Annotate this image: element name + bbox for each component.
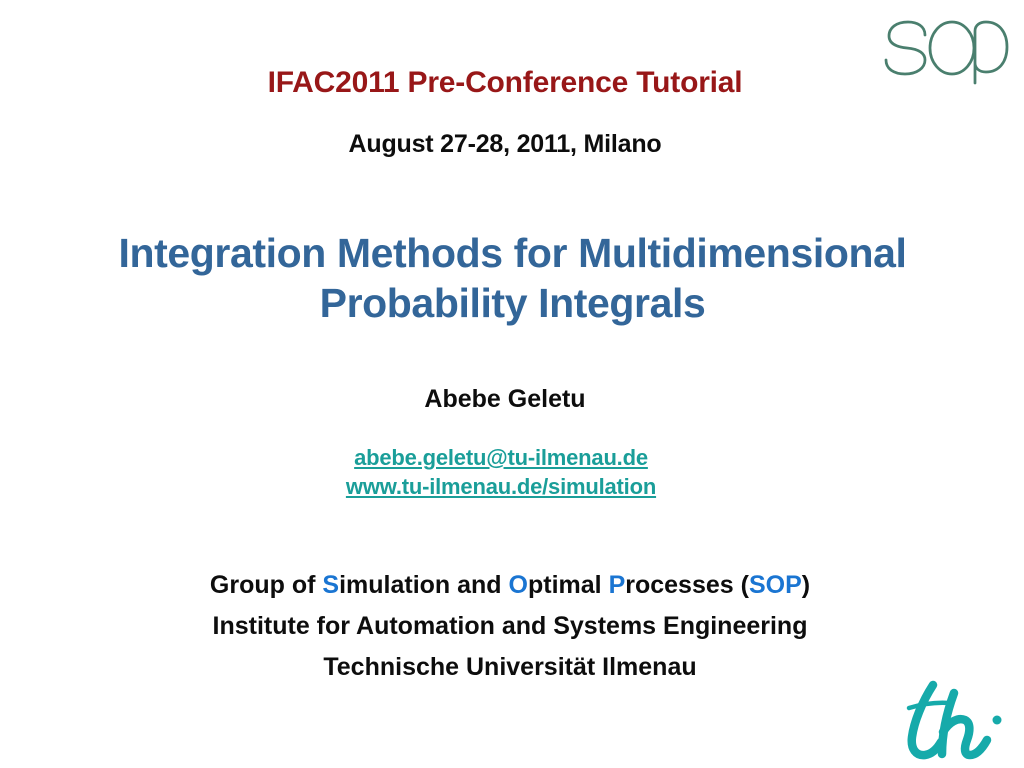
tu-ilmenau-logo [894, 680, 1010, 764]
affiliation-line-1: Group of Simulation and Optimal Processe… [10, 565, 1010, 606]
affiliation-line-2: Institute for Automation and Systems Eng… [10, 606, 1010, 647]
conference-name: IFAC2011 Pre-Conference Tutorial [0, 66, 1010, 100]
affiliation-accent-o: O [509, 571, 528, 599]
affiliation-text-group-of: Group of [210, 571, 322, 599]
affiliation-accent-sop: SOP [749, 571, 802, 599]
page-title: Integration Methods for Multidimensional… [20, 228, 1005, 328]
website-link[interactable]: www.tu-ilmenau.de/simulation [0, 472, 1002, 501]
author-name: Abebe Geletu [0, 385, 1010, 414]
affiliation-text-rocesses-open-paren: rocesses ( [625, 571, 749, 599]
title-line-1: Integration Methods for Multidimensional [20, 228, 1005, 278]
contact-links: abebe.geletu@tu-ilmenau.de www.tu-ilmena… [0, 443, 1002, 501]
tu-ilmenau-logo-dot [993, 716, 1002, 725]
sop-logo [882, 8, 1012, 86]
affiliation-accent-s: S [322, 571, 339, 599]
email-link[interactable]: abebe.geletu@tu-ilmenau.de [0, 443, 1002, 472]
affiliation-text-close-paren: ) [802, 571, 810, 599]
affiliation-text-ptimal: ptimal [528, 571, 609, 599]
affiliation-accent-p: P [609, 571, 626, 599]
affiliation-line-3: Technische Universität Ilmenau [10, 647, 1010, 688]
affiliation-text-imulation-and: imulation and [339, 571, 508, 599]
title-line-2: Probability Integrals [20, 278, 1005, 328]
affiliation-block: Group of Simulation and Optimal Processe… [10, 565, 1010, 688]
slide-canvas: IFAC2011 Pre-Conference Tutorial August … [0, 0, 1024, 768]
conference-date: August 27-28, 2011, Milano [0, 130, 1010, 159]
